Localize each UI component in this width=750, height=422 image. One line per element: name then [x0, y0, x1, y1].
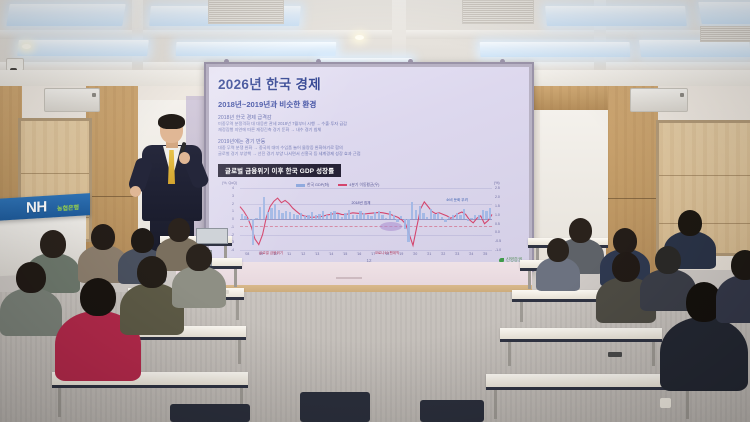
audience-head — [91, 224, 115, 250]
chart-annotation-0: 글로벌 금융위기 — [246, 251, 296, 256]
slide-subtitle: 2018년~2019년과 비슷한 환경 — [218, 99, 520, 110]
podium-logo-sub: 농협은행 — [57, 202, 79, 212]
chart-bar — [281, 213, 283, 219]
chart-bar — [341, 217, 343, 219]
chart-right-unit: (%) — [494, 181, 500, 185]
ceiling-light-panel — [17, 40, 149, 56]
chair-back — [300, 392, 370, 422]
chart-bar — [274, 204, 276, 219]
chart-ytick-left: 2 — [222, 202, 234, 206]
chart-bar — [404, 219, 406, 229]
wall-speaker-left — [44, 88, 100, 112]
slide-section1-heading: 2018년 한국 경제 급격감 — [218, 114, 520, 121]
chart-bar — [363, 213, 365, 219]
gdp-growth-chart: (%, QoQ) (%) 한국 GDP(좌) 4분기 이동평균(우) 43210… — [218, 181, 518, 267]
wall-wood-panel — [532, 86, 608, 110]
chart-bar — [311, 212, 313, 219]
audience-head — [168, 218, 190, 242]
chart-bar — [241, 214, 243, 219]
desk-leg — [234, 269, 237, 287]
chart-banner: 글로벌 금융위기 이후 한국 GDP 성장률 — [218, 164, 341, 177]
chart-xtick: '13 — [312, 252, 322, 256]
chart-bar — [470, 218, 472, 219]
slide-section2-heading: 2019년에는 경기 반등 — [218, 138, 520, 145]
chart-ytick-right: 1.5 — [495, 204, 509, 208]
audience-shoulders — [536, 257, 580, 291]
chart-bar — [330, 212, 332, 219]
ceiling-light-panel — [545, 6, 687, 26]
chart-bar — [348, 210, 350, 219]
desk-leg — [238, 340, 241, 364]
chart-bar — [452, 215, 454, 220]
audience-head — [80, 278, 116, 316]
chart-xtick: '24 — [466, 252, 476, 256]
chart-bar — [426, 217, 428, 219]
audience-head — [16, 262, 46, 293]
chart-bar — [259, 207, 261, 219]
chart-bar — [393, 215, 395, 220]
desk-edge — [500, 339, 662, 342]
audience-shoulders — [716, 275, 750, 323]
legend-label-bar: 한국 GDP(좌) — [307, 183, 329, 187]
legend-label-line: 4분기 이동평균(우) — [349, 183, 379, 187]
chart-bar — [407, 219, 409, 242]
chart-bar — [485, 211, 487, 219]
chart-bar — [370, 216, 372, 219]
chair-back — [170, 404, 250, 422]
screen-mount — [408, 59, 413, 64]
chart-bar — [252, 219, 254, 245]
screen-mount — [224, 59, 229, 64]
chart-bar — [419, 206, 421, 219]
chart-bar — [255, 218, 257, 220]
desk-leg — [508, 342, 511, 366]
desk-leg — [652, 342, 655, 366]
ceiling-light-panel — [698, 2, 750, 24]
chart-bar — [459, 215, 461, 220]
chart-ytick-right: 0.5 — [495, 222, 509, 226]
chart-bar — [296, 215, 298, 219]
audience-member — [716, 250, 750, 328]
chart-bar — [322, 211, 324, 219]
chart-bar — [285, 211, 287, 219]
ceiling-light-panel — [639, 40, 750, 57]
chart-bar — [456, 213, 458, 219]
wall-seam — [86, 196, 138, 197]
screen-surface: 2026년 한국 경제 2018년~2019년과 비슷한 환경 2018년 한국… — [209, 67, 529, 267]
wall-speaker-right — [630, 88, 688, 112]
desk[interactable] — [500, 328, 662, 339]
desk-leg — [494, 390, 497, 419]
chart-bar — [478, 215, 480, 220]
chart-xtick: '25 — [480, 252, 490, 256]
chart-bar — [367, 215, 369, 220]
chart-bar — [352, 215, 354, 220]
air-vent — [700, 26, 750, 42]
screen-mount — [316, 59, 321, 64]
chart-bar — [293, 214, 295, 219]
chart-bar — [270, 208, 272, 219]
chart-bar — [422, 213, 424, 219]
chart-bar — [474, 215, 476, 219]
chart-annotation-3: 소비 둔화 우려 — [436, 198, 478, 203]
chart-bar — [444, 219, 446, 221]
chart-xtick: '21 — [424, 252, 434, 256]
audience-head — [678, 210, 702, 236]
chart-bar — [489, 208, 491, 219]
audience-head — [137, 256, 167, 288]
air-vent — [462, 0, 534, 24]
chart-bar — [304, 216, 306, 219]
chart-ytick-left: 1 — [222, 209, 234, 213]
chart-bar — [441, 217, 443, 219]
audience-head — [40, 230, 66, 258]
screen-mount — [500, 59, 505, 64]
audience-shoulders — [0, 288, 62, 336]
chart-bar — [467, 219, 469, 221]
chart-xtick: '14 — [326, 252, 336, 256]
chart-bar — [356, 215, 358, 219]
desk-leg — [236, 300, 239, 320]
chair-back — [420, 400, 484, 422]
chart-bar — [359, 211, 361, 219]
lecture-hall-scene: 2026년 한국 경제 2018년~2019년과 비슷한 환경 2018년 한국… — [0, 0, 750, 422]
air-vent — [208, 0, 284, 24]
chart-bar — [326, 215, 328, 219]
ceiling-light-panel — [480, 42, 631, 57]
chart-ytick-left: 3 — [222, 194, 234, 198]
audience-shoulders — [660, 317, 748, 391]
chart-bar — [396, 219, 398, 221]
chart-bar — [482, 210, 484, 219]
audience-member — [172, 244, 226, 313]
presenter-hand-right — [179, 152, 190, 164]
chart-bar — [267, 212, 269, 219]
chart-bar — [289, 212, 291, 219]
chart-annotation-2: 코로나19 팬데믹 — [360, 251, 414, 256]
audience-shoulders — [172, 266, 226, 308]
audience-member — [0, 262, 62, 341]
chart-bar — [315, 215, 317, 220]
chart-bar — [344, 213, 346, 219]
chart-bar — [318, 214, 320, 219]
chart-bar — [307, 215, 309, 220]
chart-xtick: '23 — [452, 252, 462, 256]
audience-head — [612, 252, 640, 282]
chart-bar — [415, 210, 417, 219]
chart-ytick-right: 2.0 — [495, 195, 509, 199]
cup[interactable] — [660, 398, 671, 408]
chart-left-unit: (%, QoQ) — [222, 181, 237, 185]
desk-leg — [58, 388, 61, 417]
desk-leg — [520, 302, 523, 322]
slide-content: 2026년 한국 경제 2018년~2019년과 비슷한 환경 2018년 한국… — [209, 67, 529, 267]
chart-bar — [337, 214, 339, 219]
door-panel-line — [659, 175, 750, 176]
desk-leg — [528, 271, 531, 289]
audience-head — [731, 250, 750, 280]
ceiling-light-panel — [6, 4, 125, 26]
ceiling-light-panel — [176, 42, 337, 56]
chart-bar — [433, 214, 435, 219]
chart-ytick-left: 0 — [222, 217, 234, 221]
chart-bar — [411, 202, 413, 219]
audience-head — [655, 246, 681, 274]
audience-member — [536, 238, 580, 296]
downlight — [22, 44, 31, 49]
chart-ytick-left: 4 — [222, 186, 234, 190]
chart-bar — [400, 216, 402, 219]
chart-ytick-right: -1.0 — [495, 248, 509, 252]
downlight — [355, 35, 364, 40]
chart-bar — [385, 218, 387, 220]
chart-bar — [300, 213, 302, 219]
door-panel-line — [21, 173, 89, 174]
chart-ytick-right: -0.5 — [495, 239, 509, 243]
wall-seam — [606, 198, 658, 199]
chart-ytick-right: 1.0 — [495, 213, 509, 217]
phone[interactable] — [608, 352, 622, 357]
chart-bar — [263, 197, 265, 219]
chart-bar — [448, 217, 450, 219]
presenter-hand-left — [130, 186, 141, 197]
audience-head — [186, 244, 212, 271]
presenter-hair — [158, 114, 185, 129]
chart-bar — [378, 211, 380, 219]
podium-logo: NH — [26, 198, 47, 216]
chart-bar — [463, 209, 465, 219]
chart-bar — [248, 219, 250, 221]
chart-annotation-1: 2018년 침체 — [344, 201, 378, 206]
chart-ytick-right: 2.5 — [495, 186, 509, 190]
slide-section1-line2: 재정집행 지연에 따른 재정긴축 경기 둔화 → 내수 경기 침체 — [218, 127, 520, 133]
chart-bar — [430, 209, 432, 219]
ceiling-beam — [132, 0, 143, 70]
ceiling-beam — [0, 30, 750, 39]
audience-head — [613, 228, 637, 254]
chart-bar — [374, 212, 376, 219]
audience-head — [547, 238, 569, 262]
chart-xtick: '15 — [340, 252, 350, 256]
projection-screen: 2026년 한국 경제 2018년~2019년과 비슷한 환경 2018년 한국… — [204, 62, 534, 272]
slide-title: 2026년 한국 경제 — [218, 73, 520, 93]
slide-section2-line2: 글로벌 경기 부양책 → 선진 경기 부양 나서면서 신흥국 등 세계경제 성장… — [218, 151, 520, 157]
audience-head — [131, 228, 154, 253]
chart-bar — [389, 211, 391, 220]
chart-xtick: '12 — [298, 252, 308, 256]
chart-bar — [278, 210, 280, 219]
chart-xtick: '22 — [438, 252, 448, 256]
stage-vent-slot — [336, 277, 362, 279]
chart-ytick-right: 0.0 — [495, 230, 509, 234]
chart-bar — [437, 213, 439, 219]
chart-bar — [333, 211, 335, 220]
chart-bar — [381, 215, 383, 220]
chart-bar — [244, 216, 246, 219]
